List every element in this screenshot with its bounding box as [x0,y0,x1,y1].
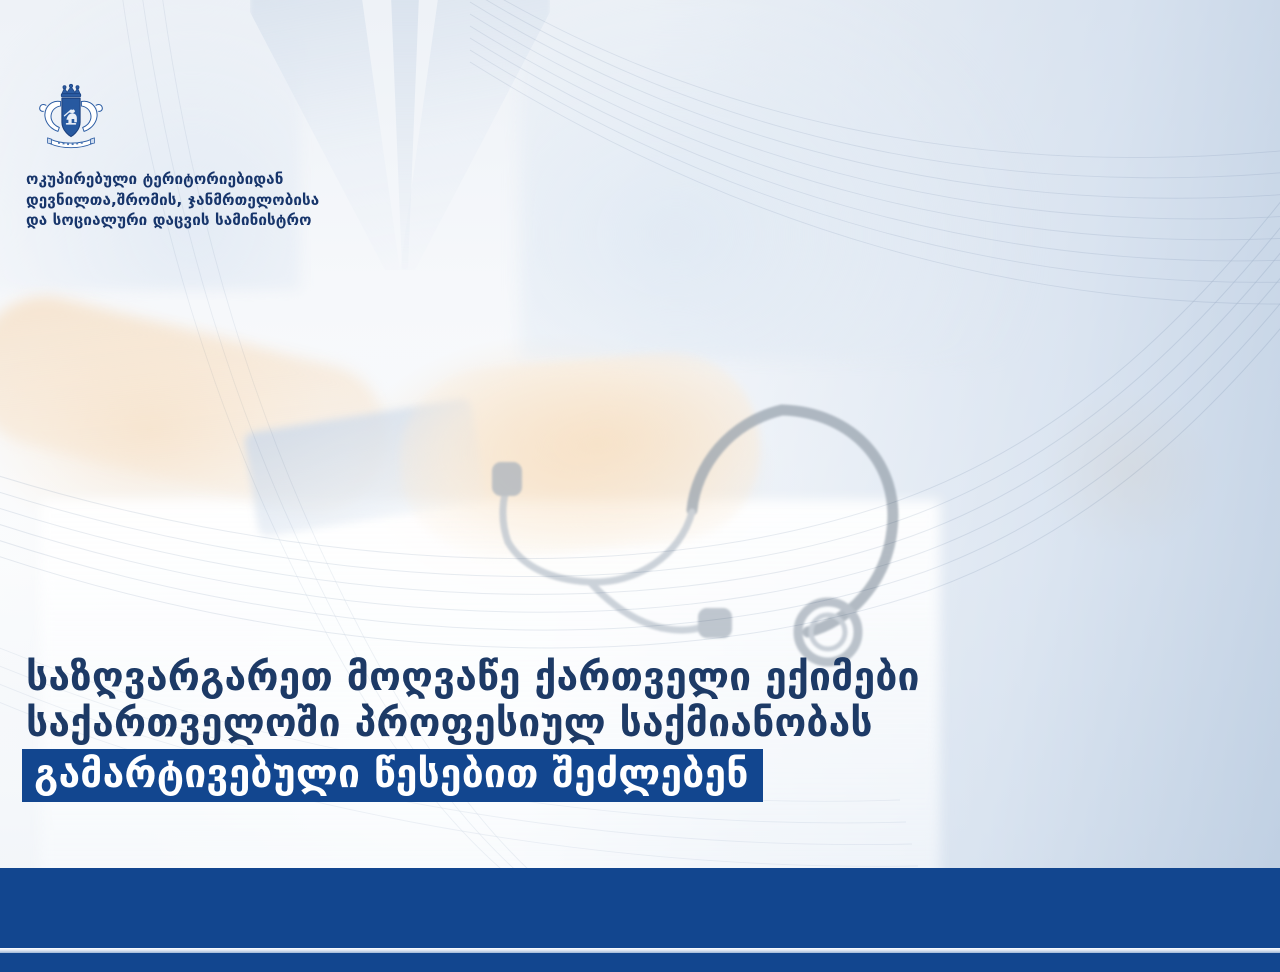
headline-block: საზღვარგარეთ მოღვაწე ქართველი ექიმები სა… [26,655,1226,802]
georgia-coat-of-arms-icon [32,82,110,160]
ministry-logo-block: ოკუპირებული ტერიტორიებიდან დევნილთა,შრომ… [26,82,426,231]
footer-strip [0,953,1280,972]
footer-bar [0,868,1280,948]
headline-line-1: საზღვარგარეთ მოღვაწე ქართველი ექიმები [26,655,1226,701]
headline-line-3-highlighted: გამარტივებული წესებით შეძლებენ [22,749,763,802]
ministry-name-text: ოკუპირებული ტერიტორიებიდან დევნილთა,შრომ… [26,169,426,231]
announcement-banner: ოკუპირებული ტერიტორიებიდან დევნილთა,შრომ… [0,0,1280,972]
headline-line-2: საქართველოში პროფესიულ საქმიანობას [26,701,1226,747]
